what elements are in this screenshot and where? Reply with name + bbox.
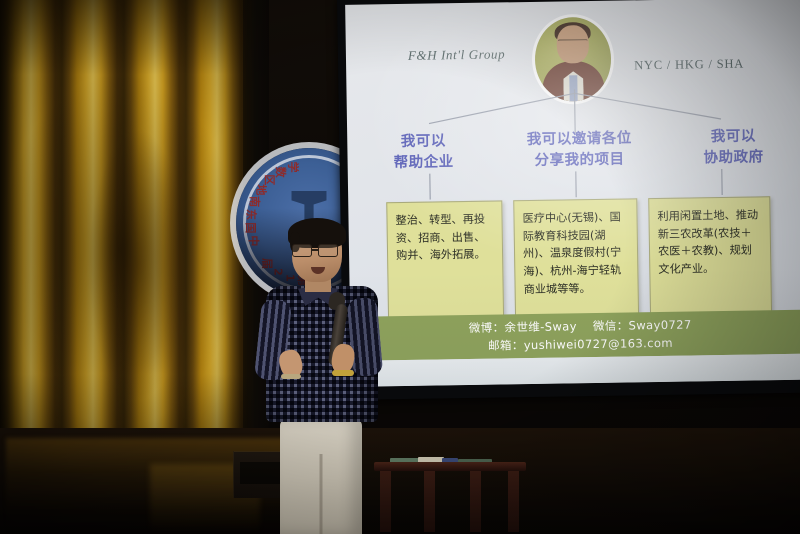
speaker-wristband — [332, 370, 354, 376]
brand-right-label: NYC / HKG / SHA — [634, 57, 744, 74]
email-contact-line: 邮箱：yushiwei0727@163.com — [488, 335, 673, 354]
column-heading-3-line1: 我可以 — [659, 126, 800, 149]
wechat-value: Sway0727 — [628, 317, 691, 332]
glasses-lens-left — [292, 244, 312, 257]
column-heading-2: 我可以邀请各位 分享我的项目 — [499, 128, 660, 173]
column-heading-3: 我可以 协助政府 — [659, 126, 800, 170]
content-boxes: 整治、转型、再投资、招商、出售、购并、海外拓展。 医疗中心(无锡)、国际教育科技… — [348, 196, 800, 321]
portrait-glasses-icon — [558, 39, 588, 47]
speaker-bracelet — [281, 374, 301, 379]
email-value: yushiwei0727@163.com — [524, 336, 673, 352]
table-leg — [508, 471, 519, 532]
table-leg — [470, 471, 481, 532]
content-box-1: 整治、转型、再投资、招商、出售、购并、海外拓展。 — [386, 200, 504, 320]
screen-frame: F&H Int'l Group NYC / HKG / SHA — [337, 0, 800, 400]
brand-left-label: F&H Int'l Group — [408, 46, 505, 64]
social-contact-line: 微博：余世维-Sway微信：Sway0727 — [469, 316, 692, 335]
table-leg — [424, 471, 435, 532]
table-top — [374, 462, 526, 471]
email-label: 邮箱： — [488, 338, 524, 353]
wechat-label: 微信： — [593, 318, 629, 333]
column-heading-2-line1: 我可以邀请各位 — [499, 128, 659, 152]
glasses-lens-right — [318, 244, 338, 257]
weibo-value: 余世维-Sway — [504, 319, 577, 334]
slide: F&H Int'l Group NYC / HKG / SHA — [345, 0, 800, 387]
column-headings: 我可以 帮助企业 我可以邀请各位 分享我的项目 我可以 协助政府 — [347, 126, 800, 175]
speaker-trousers — [280, 418, 362, 534]
presentation-table — [374, 462, 526, 532]
speaker-person — [256, 222, 388, 534]
column-heading-1: 我可以 帮助企业 — [347, 130, 500, 174]
contact-footer-bar: 微博：余世维-Sway微信：Sway0727 邮箱：yushiwei0727@1… — [350, 310, 800, 361]
content-box-3: 利用闲置土地、推动新三农改革(农技＋农医＋农教)、规划文化产业。 — [648, 196, 772, 316]
content-box-2: 医疗中心(无锡)、国际教育科技园(湖州)、温泉度假村(宁海)、杭州-海宁轻轨商业… — [513, 198, 639, 318]
column-heading-1-line1: 我可以 — [347, 130, 499, 153]
column-heading-2-line2: 分享我的项目 — [499, 149, 659, 173]
projection-screen: F&H Int'l Group NYC / HKG / SHA — [345, 0, 800, 387]
column-heading-3-line2: 协助政府 — [659, 147, 800, 170]
weibo-label: 微博： — [469, 320, 505, 335]
column-heading-1-line2: 帮助企业 — [347, 151, 499, 174]
auditorium-photo: 第12届中国东南地区数学 F&H Int'l Group NYC / HKG /… — [0, 0, 800, 534]
speaker-glasses-icon — [292, 244, 344, 257]
